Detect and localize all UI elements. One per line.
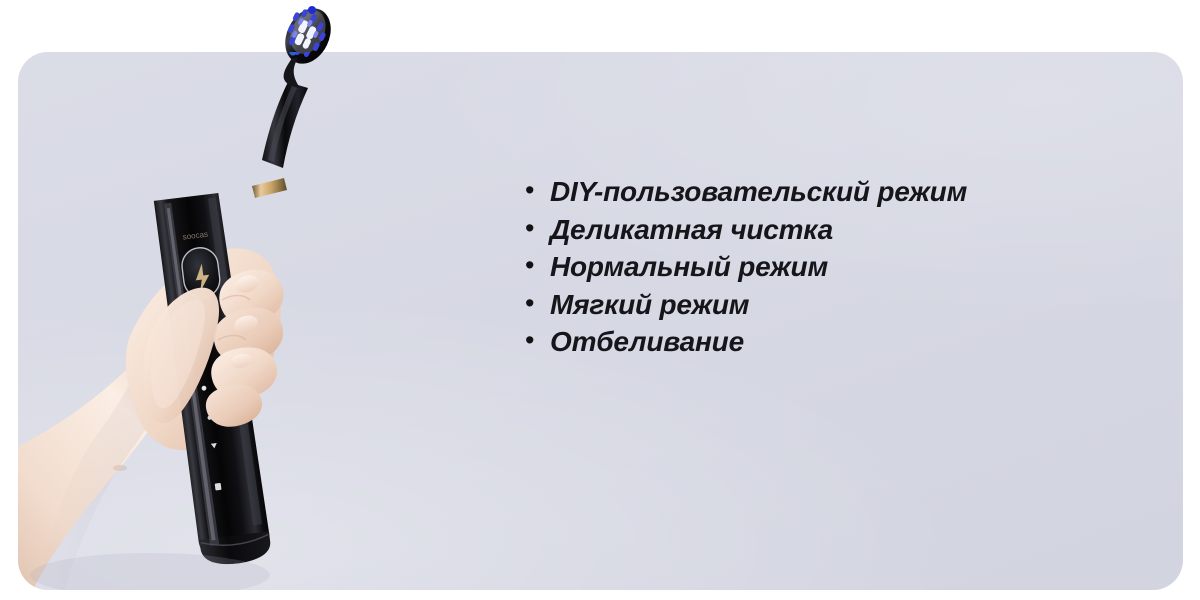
feature-label: Нормальный режим	[550, 253, 828, 281]
list-item: • DIY-пользовательский режим	[525, 178, 1145, 216]
feature-label: Отбеливание	[550, 328, 744, 356]
bullet-icon: •	[525, 215, 550, 242]
list-item: • Отбеливание	[525, 328, 1145, 366]
feature-label: Мягкий режим	[550, 291, 749, 319]
bullet-icon: •	[525, 327, 550, 354]
feature-list: • DIY-пользовательский режим • Деликатна…	[525, 178, 1145, 366]
feature-label: Деликатная чистка	[550, 216, 833, 244]
bullet-icon: •	[525, 252, 550, 279]
bullet-icon: •	[525, 177, 550, 204]
feature-label: DIY-пользовательский режим	[550, 178, 967, 206]
list-item: • Нормальный режим	[525, 253, 1145, 291]
bullet-icon: •	[525, 290, 550, 317]
list-item: • Деликатная чистка	[525, 216, 1145, 254]
list-item: • Мягкий режим	[525, 291, 1145, 329]
product-feature-banner: soocas	[0, 0, 1200, 600]
